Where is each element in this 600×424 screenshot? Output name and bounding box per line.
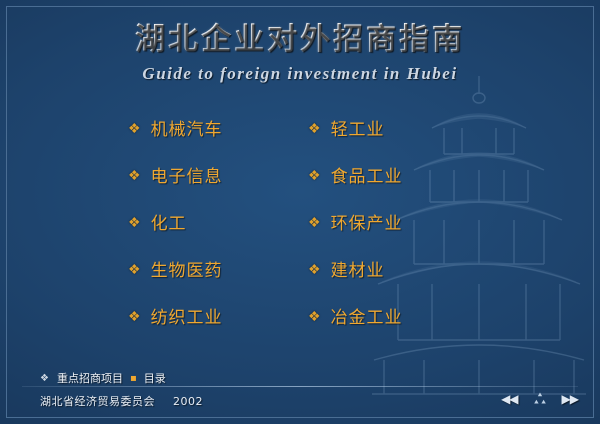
bullet-label: 环保产业 [331,209,403,234]
bullet-item-light-industry[interactable]: ❖ 轻工业 [308,115,488,140]
title-block: 湖北企业对外招商指南 Guide to foreign investment i… [0,22,600,84]
bullet-item-biomedicine[interactable]: ❖ 生物医药 [128,256,308,281]
bullet-label: 轻工业 [331,115,385,140]
bullet-item-machinery-auto[interactable]: ❖ 机械汽车 [128,115,308,140]
recycle-icon[interactable] [532,391,548,407]
bullet-label: 纺织工业 [151,303,223,328]
footer-bar: 湖北省经济贸易委员会 2002 ◀◀ ▶▶ [0,391,600,417]
nav-link-contents[interactable]: 目录 [144,370,166,386]
organization-line: 湖北省经济贸易委员会 2002 [40,393,203,409]
year-label: 2002 [173,395,203,408]
bullet-label: 机械汽车 [151,115,223,140]
bullet-item-metallurgical-industry[interactable]: ❖ 冶金工业 [308,303,488,328]
bullet-item-textile-industry[interactable]: ❖ 纺织工业 [128,303,308,328]
diamond-bullet-icon: ❖ [308,309,321,323]
bullet-label: 冶金工业 [331,303,403,328]
bullet-row: ❖ 生物医药 ❖ 建材业 [128,256,488,303]
diamond-bullet-icon: ❖ [308,215,321,229]
bullet-label: 生物医药 [151,256,223,281]
diamond-bullet-icon: ❖ [128,121,141,135]
nav-separator-icon: ▪ [130,373,137,384]
diamond-bullet-icon: ❖ [308,121,321,135]
bullet-row: ❖ 纺织工业 ❖ 冶金工业 [128,303,488,350]
page-subtitle: Guide to foreign investment in Hubei [0,64,600,84]
organization-name: 湖北省经济贸易委员会 [40,395,155,408]
next-slide-button[interactable]: ▶▶ [562,393,578,405]
diamond-bullet-icon: ❖ [40,373,49,384]
bullet-label: 建材业 [331,256,385,281]
presentation-slide: 湖北企业对外招商指南 Guide to foreign investment i… [0,0,600,424]
diamond-bullet-icon: ❖ [308,262,321,276]
page-title: 湖北企业对外招商指南 [0,22,600,58]
bullet-item-food-industry[interactable]: ❖ 食品工业 [308,162,488,187]
diamond-bullet-icon: ❖ [128,215,141,229]
diamond-bullet-icon: ❖ [128,168,141,182]
bullet-label: 化工 [151,209,187,234]
bullet-item-chemical[interactable]: ❖ 化工 [128,209,308,234]
bullet-row: ❖ 机械汽车 ❖ 轻工业 [128,115,488,162]
bullet-row: ❖ 化工 ❖ 环保产业 [128,209,488,256]
diamond-bullet-icon: ❖ [308,168,321,182]
bullet-item-electronic-information[interactable]: ❖ 电子信息 [128,162,308,187]
bullet-label: 食品工业 [331,162,403,187]
footer-navigation: ❖ 重点招商项目 ▪ 目录 [40,370,166,386]
bullet-list: ❖ 机械汽车 ❖ 轻工业 ❖ 电子信息 ❖ 食品工业 ❖ 化工 [128,115,488,350]
bullet-row: ❖ 电子信息 ❖ 食品工业 [128,162,488,209]
previous-slide-button[interactable]: ◀◀ [501,393,517,405]
diamond-bullet-icon: ❖ [128,309,141,323]
bullet-item-building-materials[interactable]: ❖ 建材业 [308,256,488,281]
diamond-bullet-icon: ❖ [128,262,141,276]
nav-link-key-projects[interactable]: 重点招商项目 [57,370,123,386]
footer-divider [22,386,578,387]
slide-nav-controls: ◀◀ ▶▶ [501,391,578,407]
bullet-label: 电子信息 [151,162,223,187]
bullet-item-environmental-industry[interactable]: ❖ 环保产业 [308,209,488,234]
